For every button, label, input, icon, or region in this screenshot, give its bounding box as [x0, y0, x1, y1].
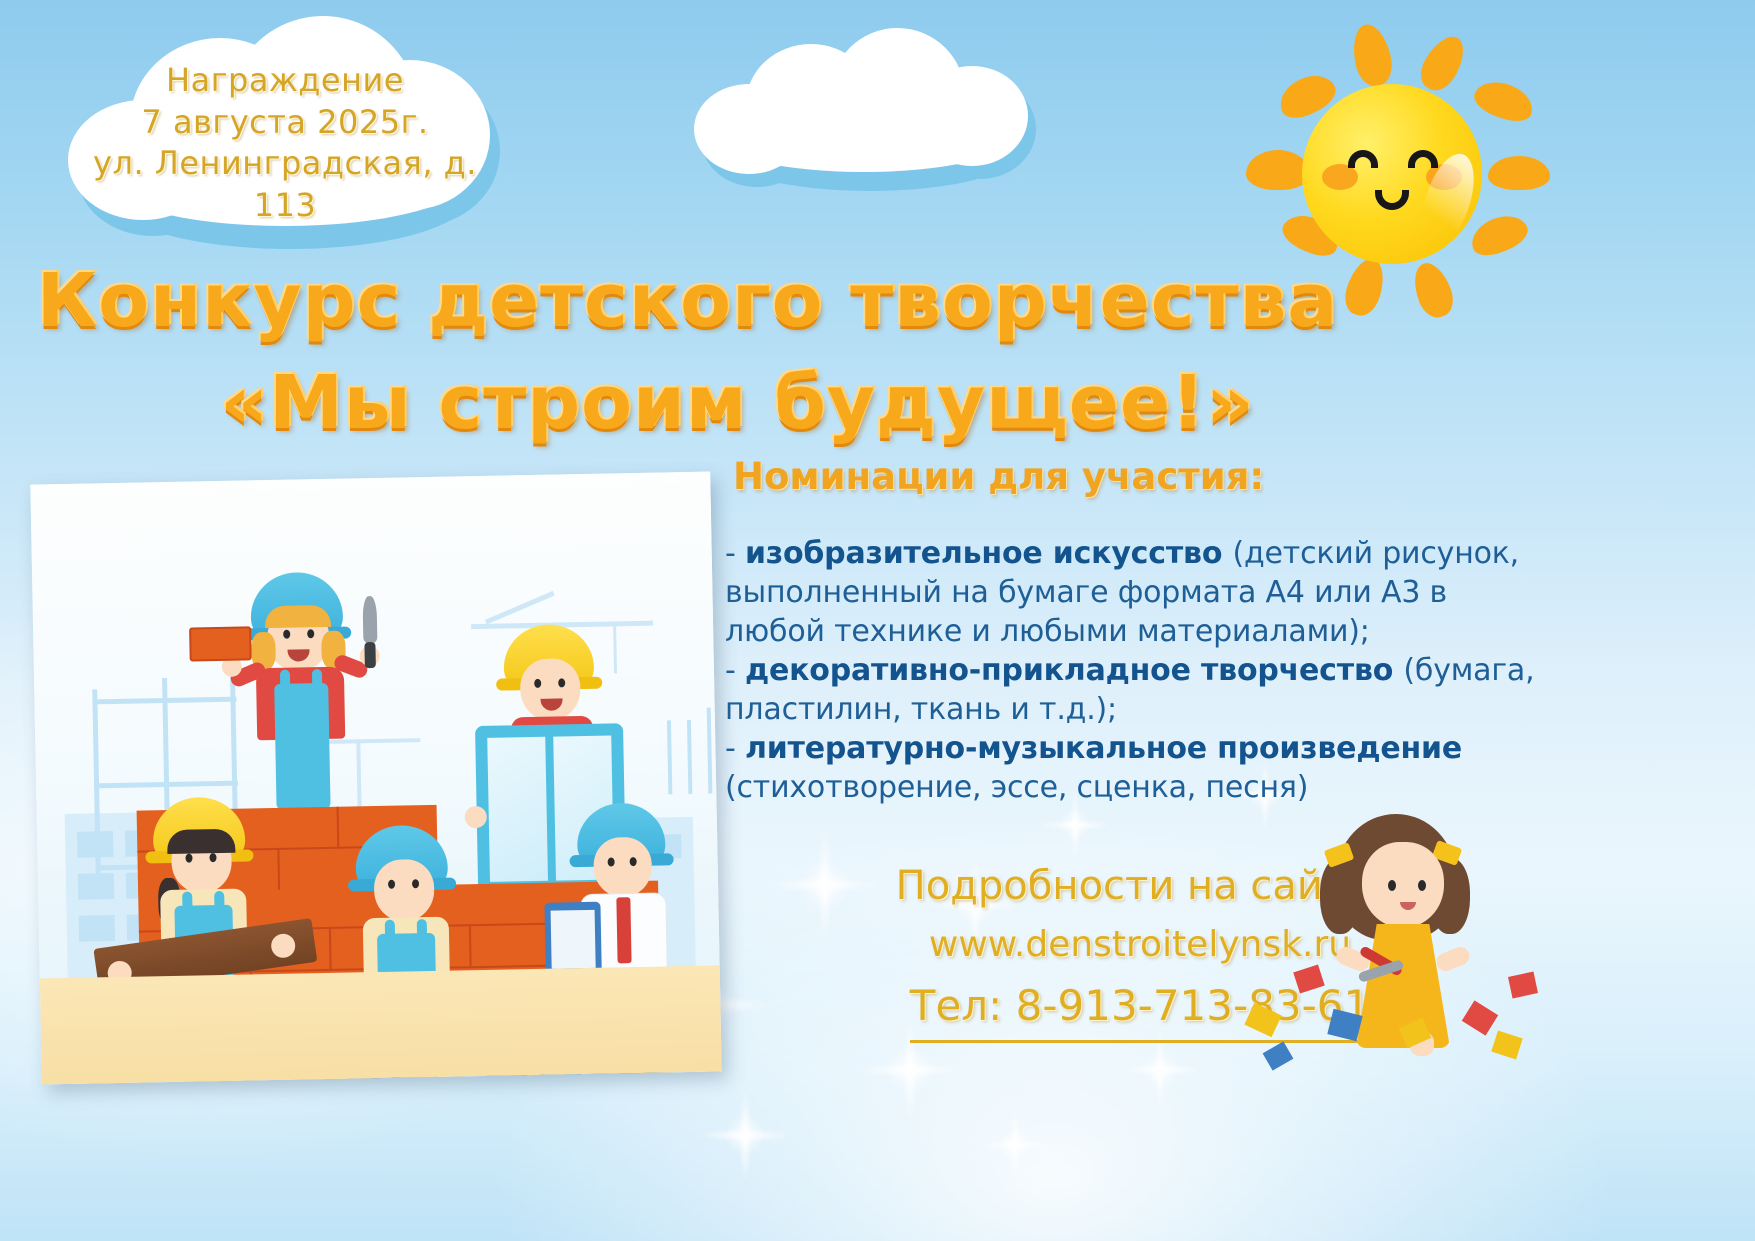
eye — [534, 679, 541, 688]
eye — [283, 630, 290, 639]
nomination-item: - декоративно-прикладное творчество (бум… — [725, 651, 1555, 729]
nomination-desc: (стихотворение, эссе, сценка, песня) — [725, 770, 1308, 805]
crane-cable — [613, 625, 617, 673]
trowel-handle — [364, 642, 375, 668]
girl-eye-left — [1388, 880, 1396, 891]
sun-ray — [1414, 29, 1472, 96]
construction-kids-illustration — [30, 472, 721, 1085]
overall-strap — [280, 670, 290, 696]
hair-dark — [167, 829, 235, 854]
brick-icon — [189, 626, 252, 661]
overall-strap — [385, 920, 395, 946]
girl-pigtail-left — [1320, 858, 1360, 934]
eye — [209, 853, 216, 862]
decorative-cloud — [690, 22, 1040, 197]
eye — [558, 678, 565, 687]
building-window — [79, 915, 115, 942]
hair-bangs — [265, 605, 331, 628]
sun-ray — [1488, 156, 1550, 190]
nomination-dash: - — [725, 653, 745, 688]
sparkle-decor — [700, 1090, 790, 1180]
award-line-2: 7 августа 2025г. — [60, 102, 510, 144]
girl-arm-right — [1434, 944, 1472, 973]
sun-ray — [1246, 150, 1310, 190]
page-title-line-2: «Мы строим будущее!» — [0, 360, 1615, 446]
award-info-text: Награждение 7 августа 2025г. ул. Ленингр… — [60, 60, 510, 226]
cloud-body — [690, 22, 1040, 197]
eye — [307, 629, 314, 638]
nomination-item: - литературно-музыкальное произведение (… — [725, 729, 1555, 807]
overall-strap — [214, 891, 224, 917]
girl-face — [1362, 842, 1444, 928]
nomination-title: литературно-музыкальное произведение — [745, 731, 1462, 766]
overalls — [274, 683, 330, 810]
award-info-cloud: Награждение 7 августа 2025г. ул. Ленингр… — [60, 8, 510, 263]
nomination-dash: - — [725, 536, 745, 571]
nomination-item: - изобразительное искусство (детский рис… — [725, 534, 1555, 651]
nomination-dash: - — [725, 731, 745, 766]
nominations-list: - изобразительное искусство (детский рис… — [725, 534, 1555, 807]
confetti-piece — [1263, 1041, 1294, 1070]
sparkle-decor — [980, 1110, 1050, 1180]
clipboard-paper — [551, 910, 596, 969]
sun-ray — [1348, 21, 1396, 89]
illustration-ground — [40, 965, 722, 1084]
tie-icon — [616, 897, 631, 963]
overall-strap — [312, 669, 322, 695]
eye — [412, 879, 419, 888]
award-line-1: Награждение — [60, 60, 510, 102]
award-line-3: ул. Ленинградская, д. 113 — [60, 143, 510, 226]
overall-strap — [182, 892, 192, 918]
overall-strap — [417, 919, 427, 945]
sun-ray — [1470, 75, 1538, 127]
eye — [388, 880, 395, 889]
eye — [608, 857, 615, 866]
page-title-line-1: Конкурс детского творчества — [0, 258, 1565, 344]
window-glass — [487, 737, 548, 882]
eye — [630, 857, 637, 866]
sun-ray — [1466, 208, 1533, 261]
nomination-title: декоративно-прикладное творчество — [745, 653, 1403, 688]
nomination-title: изобразительное искусство — [745, 536, 1233, 571]
girl-eye-right — [1418, 880, 1426, 891]
nominations-heading: Номинации для участия: — [733, 455, 1555, 498]
trowel-icon — [363, 596, 378, 644]
eye — [185, 854, 192, 863]
